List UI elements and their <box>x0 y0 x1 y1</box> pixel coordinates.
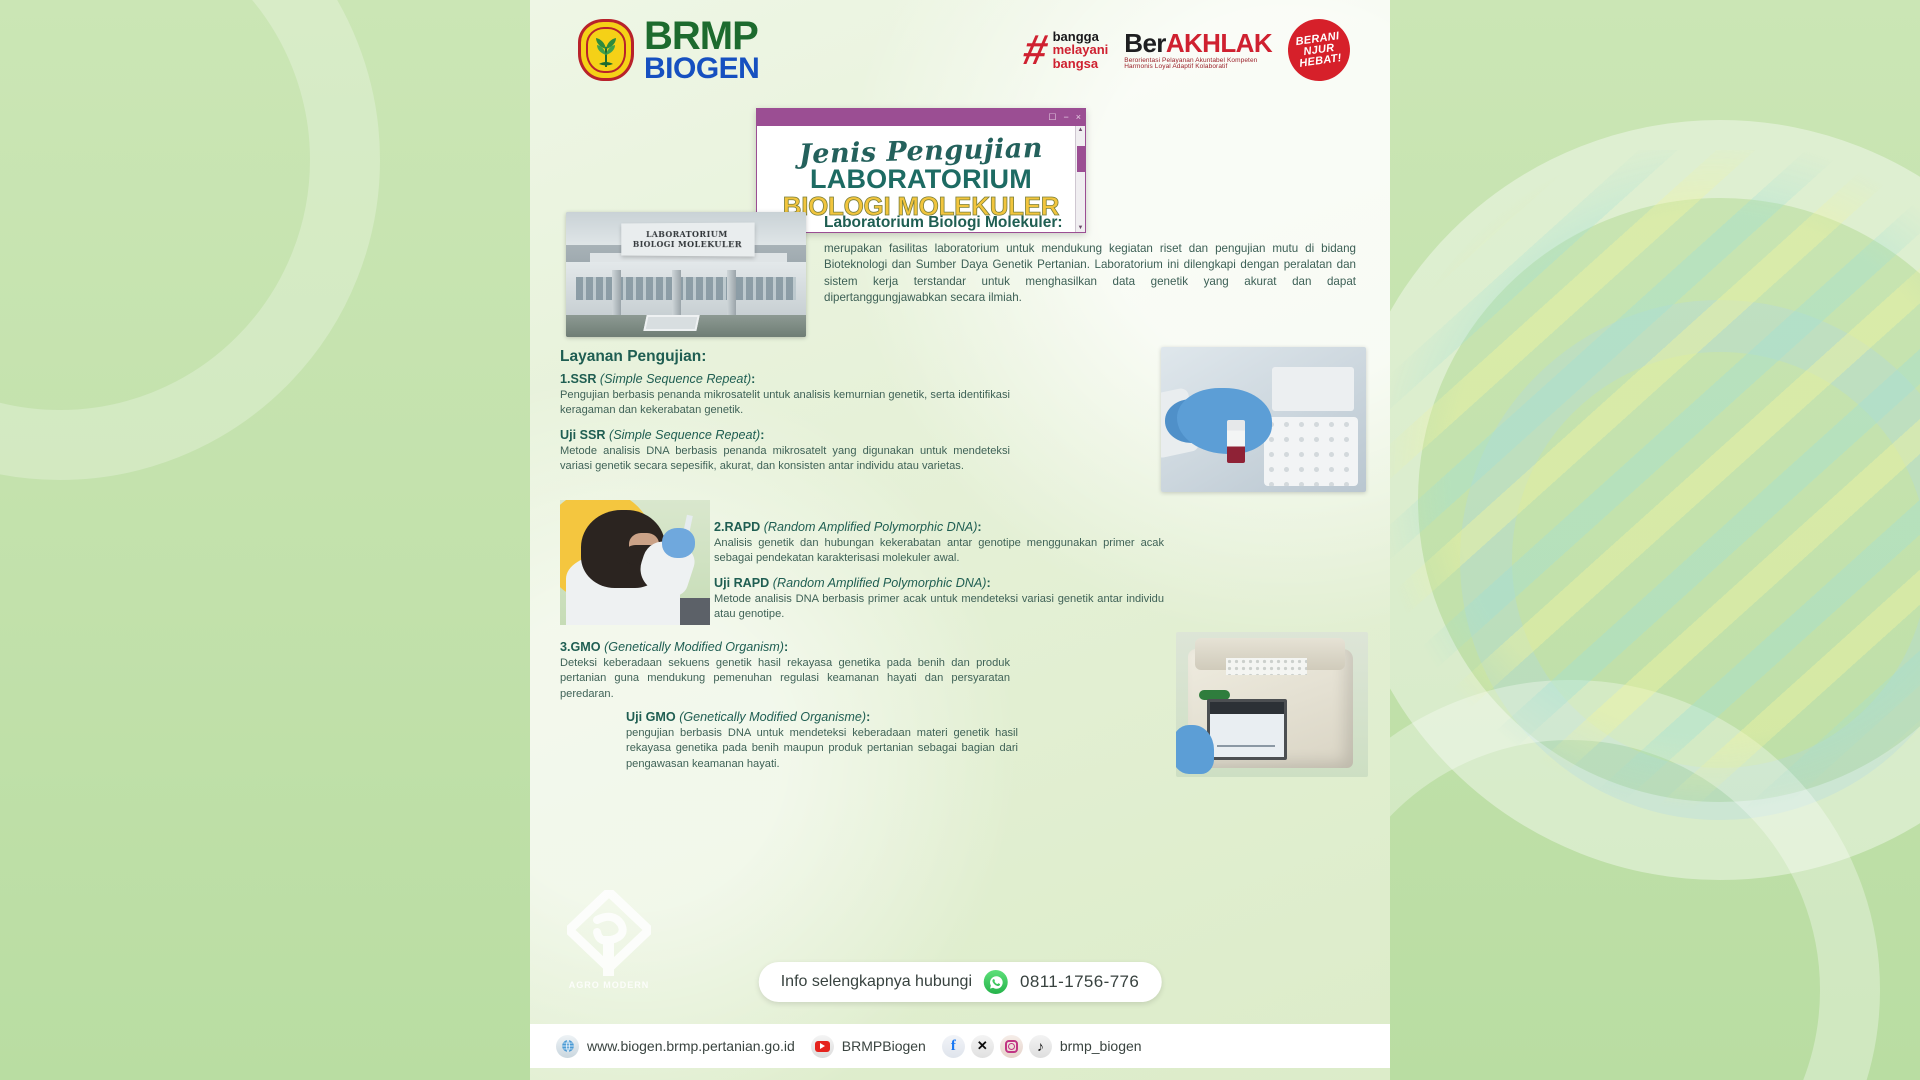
uji-rapd-title: Uji RAPD (Random Amplified Polymorphic D… <box>714 576 1164 590</box>
title-script-line: Jenis Pengujian <box>799 132 1044 169</box>
background-arc-decoration <box>0 0 380 480</box>
scrollbar-thumb[interactable] <box>1077 146 1085 172</box>
berakhlak-prefix: Ber <box>1124 28 1166 58</box>
brand-wordmark: BRMP BIOGEN <box>644 18 759 82</box>
rapd-abbr: RAPD <box>725 520 761 534</box>
building-sign-line-1: LABORATORIUM <box>646 229 728 239</box>
bangga-line-2: melayani <box>1053 43 1109 56</box>
agro-modern-watermark: AGRO MODERN <box>554 890 664 1010</box>
building-sign-line-2: BIOLOGI MOLEKULER <box>633 240 742 250</box>
instagram-glyph <box>1005 1040 1018 1053</box>
uji-ssr-expansion: (Simple Sequence Repeat) <box>609 428 760 442</box>
footer-bar: www.biogen.brmp.pertanian.go.id BRMPBiog… <box>530 1024 1390 1068</box>
uji-ssr-prefix: Uji SSR <box>560 428 606 442</box>
photo-touchscreen <box>1207 699 1288 760</box>
photo-tube-rack <box>1264 417 1358 487</box>
footer-social-handle[interactable]: brmp_biogen <box>1060 1038 1142 1054</box>
photo-screen-titlebar <box>1210 702 1285 714</box>
agro-modern-mark-icon <box>567 890 651 978</box>
ssr-body: Pengujian berbasis penanda mikrosatelit … <box>560 388 1010 419</box>
uji-gmo-title: Uji GMO (Genetically Modified Organisme)… <box>626 710 1018 724</box>
whatsapp-icon <box>984 970 1008 994</box>
tiktok-icon[interactable]: ♪ <box>1029 1035 1052 1058</box>
intro-heading: Laboratorium Biologi Molekuler: <box>824 214 1356 232</box>
building-signage: LABORATORIUM BIOLOGI MOLEKULER <box>621 223 755 256</box>
rice-plant-icon <box>591 33 621 67</box>
uji-ssr-title: Uji SSR (Simple Sequence Repeat): <box>560 428 1010 442</box>
service-item-gmo: 3.GMO (Genetically Modified Organism): D… <box>560 640 1010 702</box>
uji-ssr-colon: : <box>760 428 764 442</box>
gmo-number: 3. <box>560 640 571 654</box>
service-item-uji-gmo: Uji GMO (Genetically Modified Organisme)… <box>626 710 1018 772</box>
window-close-button[interactable]: × <box>1076 113 1081 122</box>
youtube-icon <box>811 1035 834 1058</box>
intro-section: LABORATORIUM BIOLOGI MOLEKULER Laborator… <box>566 212 1356 337</box>
bangga-text-lines: bangga melayani bangsa <box>1053 30 1109 70</box>
researcher-photo <box>560 500 710 625</box>
bangga-melayani-bangsa-logo: # bangga melayani bangsa <box>1024 30 1108 70</box>
window-minimize-button[interactable]: ☐ <box>1048 113 1056 122</box>
window-titlebar: ☐ − × <box>757 109 1085 126</box>
uji-rapd-prefix: Uji RAPD <box>714 576 769 590</box>
bangga-line-3: bangsa <box>1053 57 1109 70</box>
photo-screen-trace <box>1217 745 1275 747</box>
rapd-expansion: (Random Amplified Polymorphic DNA) <box>764 520 978 534</box>
instagram-icon[interactable] <box>1000 1035 1023 1058</box>
rapd-number: 2. <box>714 520 725 534</box>
facebook-icon[interactable]: f <box>942 1035 965 1058</box>
agro-leaf-icon <box>567 890 651 978</box>
berakhlak-subtitle-line-2: Harmonis Loyal Adaptif Kolaboratif <box>1124 64 1272 71</box>
government-logo-group: # bangga melayani bangsa BerAKHLAK Beror… <box>1024 19 1350 81</box>
berakhlak-suffix: AKHLAK <box>1166 28 1272 58</box>
service-item-rapd: 2.RAPD (Random Amplified Polymorphic DNA… <box>714 520 1164 622</box>
uji-gmo-expansion: (Genetically Modified Organisme) <box>679 710 866 724</box>
scroll-up-icon[interactable]: ▲ <box>1078 126 1084 134</box>
rapd-title: 2.RAPD (Random Amplified Polymorphic DNA… <box>714 520 1164 534</box>
service-item-ssr: 1.SSR (Simple Sequence Repeat): Pengujia… <box>560 372 1010 474</box>
berakhlak-logo: BerAKHLAK Berorientasi Pelayanan Akuntab… <box>1124 30 1272 71</box>
footer-website-item[interactable]: www.biogen.brmp.pertanian.go.id <box>556 1035 795 1058</box>
berani-njur-hebat-badge: BERANI NJUR HEBAT! <box>1284 15 1354 85</box>
berakhlak-wordmark: BerAKHLAK <box>1124 30 1272 56</box>
brand-line-1: BRMP <box>644 18 759 55</box>
photo-pcr-plate <box>1226 658 1307 675</box>
rapd-colon: : <box>977 520 981 534</box>
gmo-expansion: (Genetically Modified Organism) <box>604 640 784 654</box>
ssr-colon: : <box>751 372 755 386</box>
uji-gmo-colon: : <box>866 710 870 724</box>
whatsapp-glyph-icon <box>989 975 1004 990</box>
uji-gmo-prefix: Uji GMO <box>626 710 676 724</box>
contact-phone[interactable]: 0811-1756-776 <box>1020 972 1139 992</box>
background-dna-stripes <box>1340 150 1920 870</box>
photo-sample-vial <box>1227 420 1245 464</box>
rapd-body: Analisis genetik dan hubungan kekerabata… <box>714 536 1164 567</box>
bangga-line-1: bangga <box>1053 30 1109 43</box>
x-icon[interactable]: ✕ <box>971 1035 994 1058</box>
ssr-title: 1.SSR (Simple Sequence Repeat): <box>560 372 1010 386</box>
footer-website-text[interactable]: www.biogen.brmp.pertanian.go.id <box>587 1038 795 1054</box>
laboratory-building-photo: LABORATORIUM BIOLOGI MOLEKULER <box>566 212 806 337</box>
photo-plaque <box>643 315 699 331</box>
contact-text: Info selengkapnya hubungi <box>781 973 972 991</box>
photo-gloved-hand <box>662 528 695 558</box>
sample-tube-photo <box>1161 347 1366 492</box>
footer-social-item[interactable]: f ✕ ♪ brmp_biogen <box>942 1035 1142 1058</box>
brmp-biogen-logo: BRMP BIOGEN <box>578 18 759 82</box>
footer-youtube-item[interactable]: BRMPBiogen <box>811 1035 926 1058</box>
agro-modern-label: AGRO MODERN <box>569 980 650 990</box>
footer-youtube-text[interactable]: BRMPBiogen <box>842 1038 926 1054</box>
services-heading: Layanan Pengujian: <box>560 348 706 366</box>
pcr-thermal-cycler-photo <box>1176 632 1368 777</box>
globe-icon <box>556 1035 579 1058</box>
contact-pill[interactable]: Info selengkapnya hubungi 0811-1756-776 <box>759 962 1162 1002</box>
uji-ssr-body: Metode analisis DNA berbasis penanda mik… <box>560 444 1010 475</box>
ssr-expansion: (Simple Sequence Repeat) <box>600 372 751 386</box>
globe-glyph-icon <box>561 1039 575 1053</box>
hash-icon: # <box>1021 33 1052 67</box>
youtube-play-glyph <box>815 1041 830 1052</box>
photo-white-box <box>1272 367 1354 411</box>
rice-plant-seal-icon <box>578 19 634 81</box>
uji-rapd-colon: : <box>986 576 990 590</box>
brand-line-2: BIOGEN <box>644 55 759 83</box>
poster-header: BRMP BIOGEN # bangga melayani bangsa Ber… <box>530 0 1390 100</box>
gmo-body: Deteksi keberadaan sekuens genetik hasil… <box>560 656 1010 702</box>
poster-canvas: BRMP BIOGEN # bangga melayani bangsa Ber… <box>530 0 1390 1080</box>
gmo-title: 3.GMO (Genetically Modified Organism): <box>560 640 1010 654</box>
intro-text-block: Laboratorium Biologi Molekuler: merupaka… <box>824 212 1356 337</box>
photo-window-band <box>576 277 797 300</box>
window-maximize-button[interactable]: − <box>1063 113 1068 122</box>
gmo-colon: : <box>784 640 788 654</box>
social-icon-group: f ✕ ♪ <box>942 1035 1052 1058</box>
uji-gmo-body: pengujian berbasis DNA untuk mendeteksi … <box>626 726 1018 772</box>
uji-rapd-expansion: (Random Amplified Polymorphic DNA) <box>773 576 987 590</box>
intro-paragraph: merupakan fasilitas laboratorium untuk m… <box>824 241 1356 307</box>
uji-rapd-body: Metode analisis DNA berbasis primer acak… <box>714 592 1164 623</box>
ssr-number: 1. <box>560 372 571 386</box>
gmo-abbr: GMO <box>571 640 601 654</box>
berakhlak-subtitle: Berorientasi Pelayanan Akuntabel Kompete… <box>1124 58 1272 71</box>
ssr-abbr: SSR <box>571 372 597 386</box>
